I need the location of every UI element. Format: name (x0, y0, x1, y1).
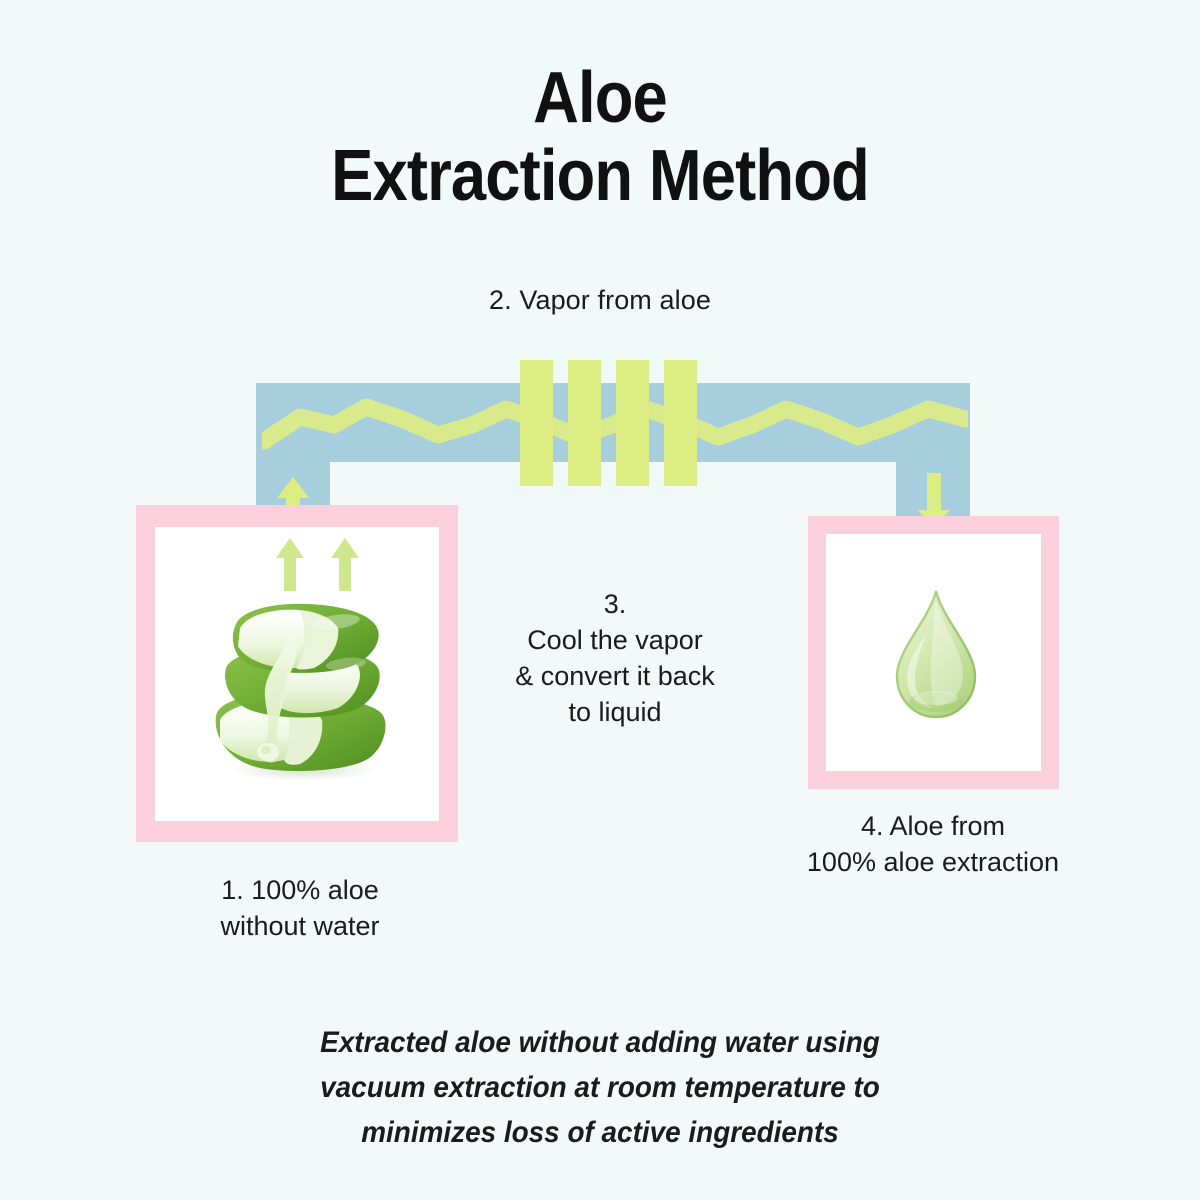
cooling-fin (568, 360, 601, 486)
aloe-leaf-stack-icon (196, 598, 408, 783)
footer-line-3: minimizes loss of active ingredients (209, 1110, 990, 1155)
condenser-tube-top (256, 383, 970, 462)
page-title: Aloe Extraction Method (0, 62, 1200, 212)
footer-line-1: Extracted aloe without adding water usin… (209, 1020, 990, 1065)
step-3-line-2: Cool the vapor (470, 622, 760, 658)
title-line-1: Aloe (72, 62, 1128, 134)
up-arrow-icon (330, 536, 360, 592)
step-4-line-2: 100% aloe extraction (758, 844, 1108, 880)
step-2-label: 2. Vapor from aloe (0, 283, 1200, 317)
step-3-line-1: 3. (470, 586, 760, 622)
step-1-line-2: without water (155, 908, 445, 944)
cooling-fin (616, 360, 649, 486)
aloe-droplet-icon (893, 588, 979, 720)
footer-description: Extracted aloe without adding water usin… (180, 1020, 1020, 1155)
step-1-line-1: 1. 100% aloe (155, 872, 445, 908)
step-4-line-1: 4. Aloe from (758, 808, 1108, 844)
step-3-text: 3. Cool the vapor & convert it back to l… (470, 586, 760, 730)
footer-line-2: vacuum extraction at room temperature to (209, 1065, 990, 1110)
cooling-fin (664, 360, 697, 486)
up-arrow-icon (275, 536, 305, 592)
cooling-fin (520, 360, 553, 486)
title-line-2: Extraction Method (72, 140, 1128, 212)
infographic-canvas: Aloe Extraction Method 2. Vapor from alo… (0, 0, 1200, 1200)
step-3-line-4: to liquid (470, 694, 760, 730)
step-1-caption: 1. 100% aloe without water (155, 872, 445, 944)
step-3-line-3: & convert it back (470, 658, 760, 694)
step-4-caption: 4. Aloe from 100% aloe extraction (758, 808, 1108, 880)
